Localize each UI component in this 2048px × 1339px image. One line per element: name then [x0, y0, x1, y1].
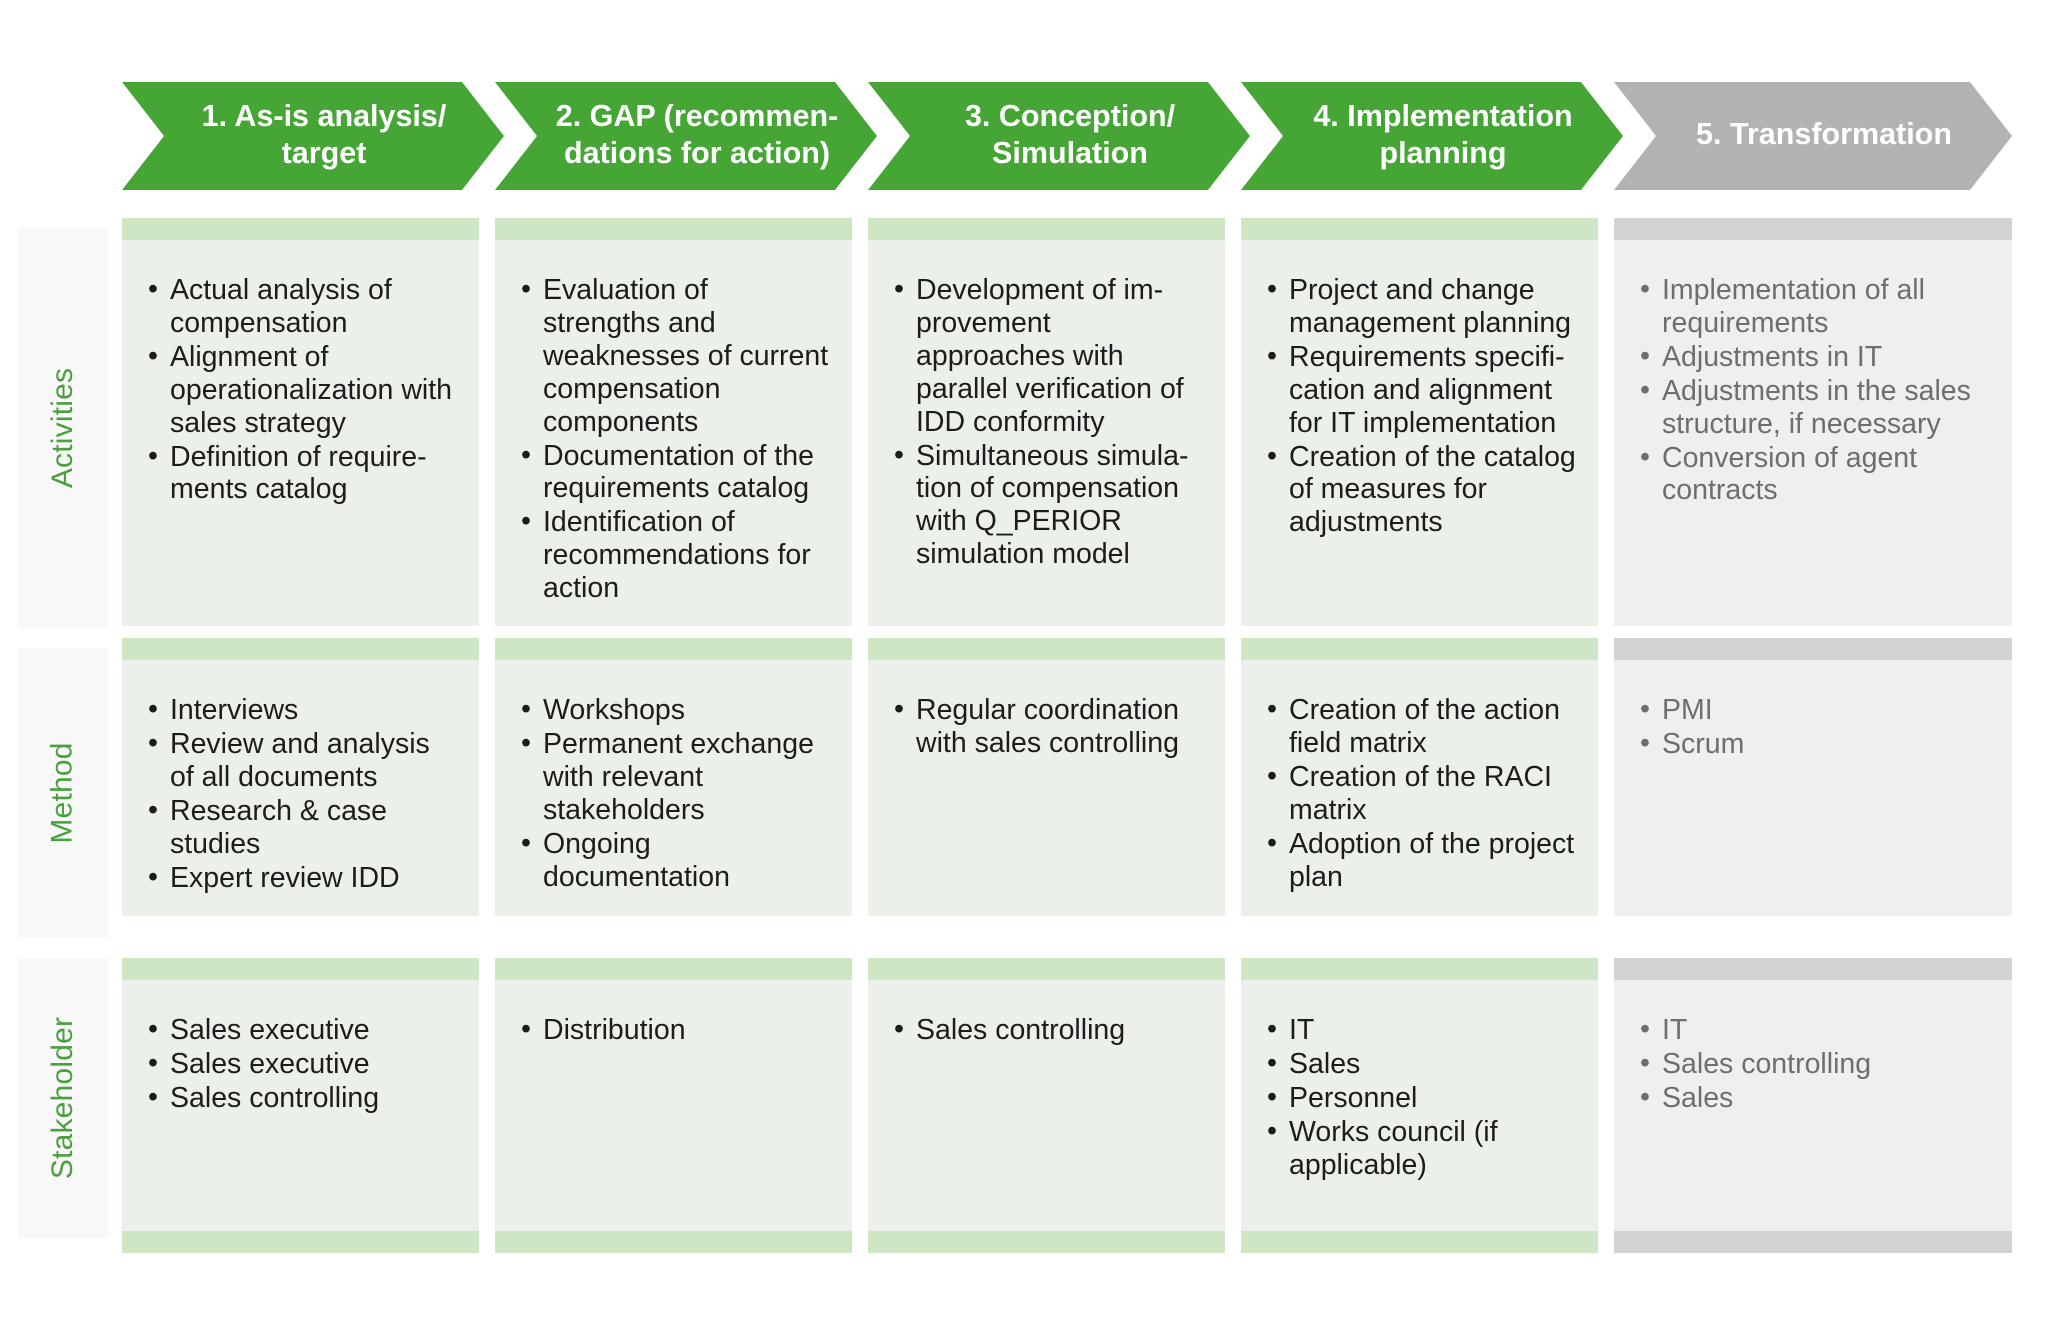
bullet-list: Implementation of all requirements Adjus… — [1636, 274, 1990, 507]
cell-botbar — [122, 1231, 479, 1253]
row-label-activities: Activities — [18, 228, 108, 628]
bullet-list: Sales executive Sales executive Sales co… — [144, 1014, 457, 1115]
cell-stakeholder-phase-5: IT Sales controlling Sales — [1614, 958, 2012, 1253]
cell-stakeholder-phase-2: Distribution — [495, 958, 852, 1253]
list-item: Adjustments in the sales structure, if n… — [1636, 375, 1990, 441]
process-matrix-diagram: Activities Method Stakeholder 1. As-is a… — [0, 0, 2048, 1339]
cell-method-phase-1: Interviews Review and analysis of all do… — [122, 638, 479, 938]
cell-body: IT Sales controlling Sales — [1614, 980, 2012, 1231]
list-item: Interviews — [144, 694, 457, 727]
cell-body: Distribution — [495, 980, 852, 1231]
list-item: Expert review IDD — [144, 862, 457, 895]
cell-activities-phase-5: Implementation of all requirements Adjus… — [1614, 218, 2012, 648]
list-item: Creation of the RACI matrix — [1263, 761, 1576, 827]
cell-body: Sales executive Sales executive Sales co… — [122, 980, 479, 1231]
bullet-list: Distribution — [517, 1014, 830, 1047]
cell-topbar — [122, 958, 479, 980]
cell-body: PMI Scrum — [1614, 660, 2012, 916]
list-item: IT — [1263, 1014, 1576, 1047]
cell-botbar — [1241, 1231, 1598, 1253]
cell-topbar — [868, 638, 1225, 660]
list-item: Conversion of agent contracts — [1636, 442, 1990, 508]
phase-header-1[interactable]: 1. As-is analysis/target — [122, 82, 504, 190]
phase-header-3-title: 3. Conception/Simulation — [965, 98, 1175, 172]
row-label-method: Method — [18, 648, 108, 938]
list-item: Sales — [1636, 1082, 1990, 1115]
list-item: Simultaneous simula­tion of compensation… — [890, 440, 1203, 572]
bullet-list: IT Sales Personnel Works council (if app… — [1263, 1014, 1576, 1182]
cell-stakeholder-phase-1: Sales executive Sales executive Sales co… — [122, 958, 479, 1253]
cell-body: Evaluation of strengths and weaknesses o… — [495, 240, 852, 626]
row-label-activities-text: Activities — [46, 368, 80, 488]
cell-botbar — [868, 1231, 1225, 1253]
cell-body: IT Sales Personnel Works council (if app… — [1241, 980, 1598, 1231]
list-item: Review and analysis of all documents — [144, 728, 457, 794]
list-item: Workshops — [517, 694, 830, 727]
list-item: Works council (if applicable) — [1263, 1116, 1576, 1182]
cell-activities-phase-1: Actual analysis of compensation Alignmen… — [122, 218, 479, 648]
cell-topbar — [868, 218, 1225, 240]
list-item: Scrum — [1636, 728, 1990, 761]
cell-body: Project and change management planning R… — [1241, 240, 1598, 626]
list-item: PMI — [1636, 694, 1990, 727]
cell-stakeholder-phase-3: Sales controlling — [868, 958, 1225, 1253]
bullet-list: Evaluation of strengths and weaknesses o… — [517, 274, 830, 605]
row-label-stakeholder-text: Stakeholder — [46, 1017, 80, 1179]
phase-header-2[interactable]: 2. GAP (recommen-dations for action) — [495, 82, 877, 190]
list-item: IT — [1636, 1014, 1990, 1047]
cell-activities-phase-4: Project and change management planning R… — [1241, 218, 1598, 648]
cell-topbar — [1614, 958, 2012, 980]
phase-header-4-title: 4. Implementationplanning — [1313, 98, 1572, 172]
list-item: Actual analysis of compensation — [144, 274, 457, 340]
list-item: Sales executive — [144, 1048, 457, 1081]
list-item: Identification of recom­mendations for a… — [517, 506, 830, 605]
list-item: Development of im­provement approaches w… — [890, 274, 1203, 439]
cell-topbar — [495, 958, 852, 980]
cell-method-phase-4: Creation of the action field matrix Crea… — [1241, 638, 1598, 938]
list-item: Distribution — [517, 1014, 830, 1047]
cell-topbar — [868, 958, 1225, 980]
cell-topbar — [1614, 218, 2012, 240]
list-item: Personnel — [1263, 1082, 1576, 1115]
phase-header-2-title: 2. GAP (recommen-dations for action) — [556, 98, 839, 172]
cell-topbar — [122, 218, 479, 240]
bullet-list: Workshops Permanent exchange with releva… — [517, 694, 830, 893]
bullet-list: PMI Scrum — [1636, 694, 1990, 761]
cell-body: Implementation of all requirements Adjus… — [1614, 240, 2012, 626]
cell-body: Development of im­provement approaches w… — [868, 240, 1225, 626]
cell-activities-phase-3: Development of im­provement approaches w… — [868, 218, 1225, 648]
list-item: Evaluation of strengths and weaknesses o… — [517, 274, 830, 439]
list-item: Research & case studies — [144, 795, 457, 861]
cell-topbar — [495, 218, 852, 240]
cell-body: Interviews Review and analysis of all do… — [122, 660, 479, 916]
phase-header-3[interactable]: 3. Conception/Simulation — [868, 82, 1250, 190]
row-label-stakeholder: Stakeholder — [18, 958, 108, 1238]
bullet-list: Regular coordination with sales controll… — [890, 694, 1203, 760]
cell-body: Actual analysis of compensation Alignmen… — [122, 240, 479, 626]
cell-botbar — [1614, 1231, 2012, 1253]
row-label-method-text: Method — [46, 742, 80, 843]
cell-body: Regular coordination with sales controll… — [868, 660, 1225, 916]
cell-topbar — [1241, 638, 1598, 660]
cell-topbar — [495, 638, 852, 660]
bullet-list: Interviews Review and analysis of all do… — [144, 694, 457, 894]
list-item: Sales executive — [144, 1014, 457, 1047]
list-item: Sales controlling — [1636, 1048, 1990, 1081]
bullet-list: Sales controlling — [890, 1014, 1203, 1047]
cell-activities-phase-2: Evaluation of strengths and weaknesses o… — [495, 218, 852, 648]
bullet-list: Development of im­provement approaches w… — [890, 274, 1203, 571]
cell-method-phase-2: Workshops Permanent exchange with releva… — [495, 638, 852, 938]
list-item: Creation of the catalog of measures for … — [1263, 441, 1576, 540]
list-item: Definition of require­ments catalog — [144, 441, 457, 507]
cell-botbar — [495, 1231, 852, 1253]
list-item: Adoption of the project plan — [1263, 828, 1576, 894]
phase-header-4[interactable]: 4. Implementationplanning — [1241, 82, 1623, 190]
cell-body: Workshops Permanent exchange with releva… — [495, 660, 852, 916]
phase-header-5-title: 5. Transformation — [1696, 116, 1952, 153]
list-item: Requirements specifi­cation and alignmen… — [1263, 341, 1576, 440]
cell-method-phase-3: Regular coordination with sales controll… — [868, 638, 1225, 938]
cell-body: Creation of the action field matrix Crea… — [1241, 660, 1598, 916]
cell-method-phase-5: PMI Scrum — [1614, 638, 2012, 938]
cell-body: Sales controlling — [868, 980, 1225, 1231]
list-item: Creation of the action field matrix — [1263, 694, 1576, 760]
cell-topbar — [1614, 638, 2012, 660]
list-item: Implementation of all requirements — [1636, 274, 1990, 340]
bullet-list: Actual analysis of compensation Alignmen… — [144, 274, 457, 506]
cell-topbar — [122, 638, 479, 660]
list-item: Sales controlling — [144, 1082, 457, 1115]
list-item: Documentation of the requirements catalo… — [517, 440, 830, 506]
bullet-list: Creation of the action field matrix Crea… — [1263, 694, 1576, 893]
phase-header-5[interactable]: 5. Transformation — [1614, 82, 2012, 190]
cell-topbar — [1241, 218, 1598, 240]
list-item: Permanent exchange with relevant stakeho… — [517, 728, 830, 827]
cell-topbar — [1241, 958, 1598, 980]
list-item: Sales — [1263, 1048, 1576, 1081]
bullet-list: Project and change management planning R… — [1263, 274, 1576, 539]
bullet-list: IT Sales controlling Sales — [1636, 1014, 1990, 1115]
list-item: Regular coordination with sales controll… — [890, 694, 1203, 760]
list-item: Alignment of operation­alization with sa… — [144, 341, 457, 440]
list-item: Sales controlling — [890, 1014, 1203, 1047]
cell-stakeholder-phase-4: IT Sales Personnel Works council (if app… — [1241, 958, 1598, 1253]
phase-header-1-title: 1. As-is analysis/target — [202, 98, 447, 172]
list-item: Ongoing documentation — [517, 828, 830, 894]
list-item: Adjustments in IT — [1636, 341, 1990, 374]
list-item: Project and change management planning — [1263, 274, 1576, 340]
